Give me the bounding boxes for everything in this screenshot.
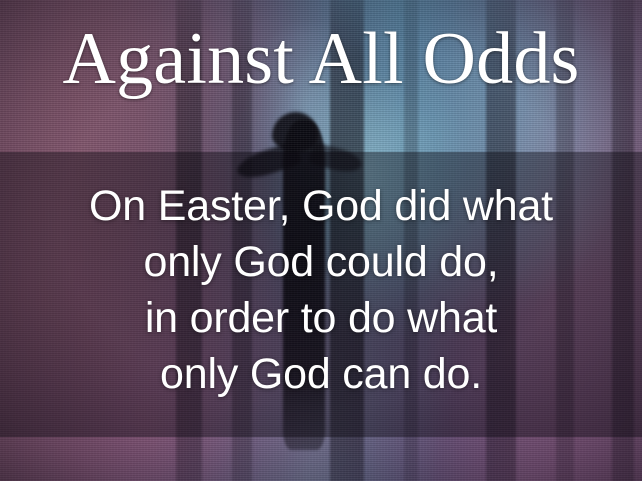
body-line: in order to do what [0,290,642,346]
body-line: On Easter, God did what [0,178,642,234]
presentation-slide: Against All Odds On Easter, God did what… [0,0,642,481]
slide-title: Against All Odds [0,22,642,96]
slide-body-text: On Easter, God did what only God could d… [0,178,642,402]
body-line: only God could do, [0,234,642,290]
body-line: only God can do. [0,346,642,402]
